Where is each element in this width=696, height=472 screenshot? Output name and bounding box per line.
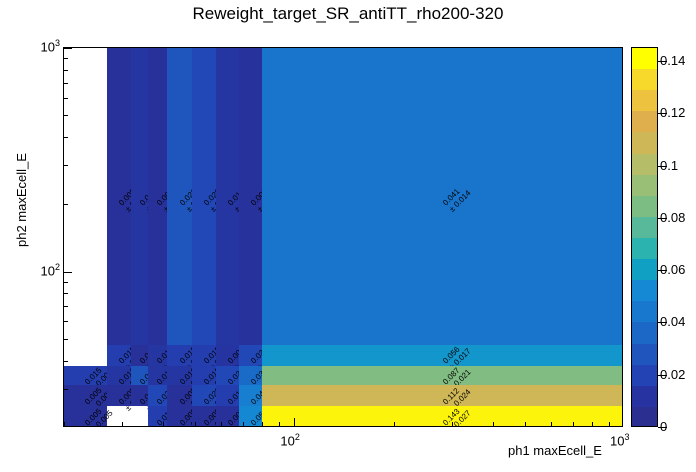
- x-tick: [122, 422, 123, 427]
- y-tick: [63, 58, 68, 59]
- y-tick: [63, 70, 68, 71]
- colorbar-segment: [632, 132, 657, 153]
- heatmap-cell: [131, 385, 148, 406]
- colorbar-segment: [632, 365, 657, 386]
- heatmap-cell: [216, 345, 239, 366]
- heatmap-cell: [131, 366, 148, 386]
- colorbar-segment: [632, 344, 657, 365]
- y-tick: [63, 204, 68, 205]
- colorbar-segment: [632, 407, 657, 427]
- heatmap-cell: [64, 366, 107, 386]
- heatmap-cell: [167, 48, 193, 345]
- colorbar-segment: [632, 196, 657, 217]
- heatmap-cell: [262, 385, 623, 406]
- x-tick: [195, 422, 196, 427]
- root-canvas: Reweight_target_SR_antiTT_rho200-320 ph2…: [0, 0, 696, 472]
- heatmap-cell: [148, 345, 167, 366]
- y-tick-label: 102: [20, 262, 60, 278]
- heatmap-cell: [64, 406, 107, 427]
- page-title: Reweight_target_SR_antiTT_rho200-320: [0, 4, 696, 24]
- heatmap-cell: [239, 385, 262, 406]
- colorbar-tick-label: 0.14: [660, 53, 685, 68]
- heatmap-cell: [192, 48, 216, 345]
- x-tick: [279, 422, 280, 427]
- heatmap-cell: [239, 366, 262, 386]
- y-tick: [63, 137, 68, 138]
- x-tick: [262, 422, 263, 427]
- y-tick: [63, 339, 68, 340]
- heatmap-cell: [192, 366, 216, 386]
- colorbar-segment: [632, 69, 657, 90]
- y-tick: [63, 98, 68, 99]
- heatmap-cell: [192, 385, 216, 406]
- y-tick: [63, 282, 68, 283]
- heatmap-cell: [107, 345, 131, 366]
- y-tick: [63, 306, 68, 307]
- x-tick: [525, 422, 526, 427]
- x-tick-label: 103: [610, 432, 629, 448]
- y-tick: [63, 48, 72, 49]
- colorbar-segment: [632, 301, 657, 322]
- heatmap-cell: [216, 366, 239, 386]
- colorbar-tick-label: 0.06: [660, 262, 685, 277]
- y-tick: [63, 389, 68, 390]
- x-axis-label: ph1 maxEcell_E: [508, 443, 602, 458]
- heatmap-cell: [131, 345, 148, 366]
- heatmap-cell: [148, 385, 167, 406]
- colorbar-segment: [632, 217, 657, 238]
- colorbar-tick-label: 0.12: [660, 105, 685, 120]
- x-tick: [221, 422, 222, 427]
- colorbar-segment: [632, 322, 657, 343]
- y-tick: [63, 272, 72, 273]
- y-tick-label: 103: [20, 38, 60, 54]
- heatmap-cell: [262, 366, 623, 386]
- colorbar-segment: [632, 90, 657, 111]
- heatmap-cell: [239, 48, 262, 345]
- colorbar-segment: [632, 154, 657, 175]
- x-tick: [551, 422, 552, 427]
- heatmap-cell: [64, 385, 107, 406]
- heatmap-cell: [262, 48, 623, 345]
- heatmap-cell: [239, 345, 262, 366]
- y-tick: [63, 115, 68, 116]
- x-tick: [163, 422, 164, 427]
- heatmap-cell: [167, 385, 193, 406]
- heatmap-cell: [131, 48, 148, 345]
- colorbar-segment: [632, 259, 657, 280]
- heatmap-cell: [216, 48, 239, 345]
- colorbar-segment: [632, 280, 657, 301]
- x-tick: [592, 422, 593, 427]
- x-tick: [243, 422, 244, 427]
- colorbar-tick-label: 0.04: [660, 314, 685, 329]
- colorbar-tick-label: 0.08: [660, 210, 685, 225]
- heatmap-cell: [262, 345, 623, 366]
- heatmap-cell: [216, 406, 239, 427]
- colorbar-segment: [632, 48, 657, 69]
- y-tick: [63, 321, 68, 322]
- heatmap-cell: [167, 366, 193, 386]
- colorbar-tick-label: 0.1: [660, 158, 678, 173]
- heatmap-cell: [107, 48, 131, 345]
- heatmap-cell: [192, 345, 216, 366]
- y-axis-label: ph2 maxEcell_E: [14, 47, 32, 247]
- heatmap-cell: [148, 48, 167, 345]
- colorbar[interactable]: [631, 47, 658, 427]
- x-tick: [394, 422, 395, 427]
- y-tick: [63, 165, 68, 166]
- heatmap-cell: [216, 385, 239, 406]
- heatmap-cell: [167, 406, 193, 427]
- x-tick: [609, 422, 610, 427]
- colorbar-tick-label: 0.02: [660, 367, 685, 382]
- heatmap-cells: 0.005± 0.0050.010± 0.0060.005± 0.0050.02…: [64, 48, 622, 426]
- heatmap-cell: [107, 385, 131, 406]
- heatmap-cell: [107, 366, 131, 386]
- colorbar-segment: [632, 111, 657, 132]
- colorbar-segment: [632, 175, 657, 196]
- y-tick: [63, 361, 68, 362]
- y-tick: [63, 83, 68, 84]
- x-tick-label: 102: [280, 432, 299, 448]
- x-tick: [452, 422, 453, 427]
- plot-area[interactable]: 0.005± 0.0050.010± 0.0060.005± 0.0050.02…: [63, 47, 623, 427]
- heatmap-cell: [167, 345, 193, 366]
- colorbar-segment: [632, 386, 657, 407]
- heatmap-cell: [262, 406, 623, 427]
- heatmap-cell: [148, 366, 167, 386]
- x-tick: [294, 418, 295, 427]
- colorbar-tick-label: 0: [660, 419, 667, 434]
- x-tick: [64, 422, 65, 427]
- y-tick: [63, 293, 68, 294]
- x-tick: [573, 422, 574, 427]
- colorbar-segment: [632, 238, 657, 259]
- x-tick: [493, 422, 494, 427]
